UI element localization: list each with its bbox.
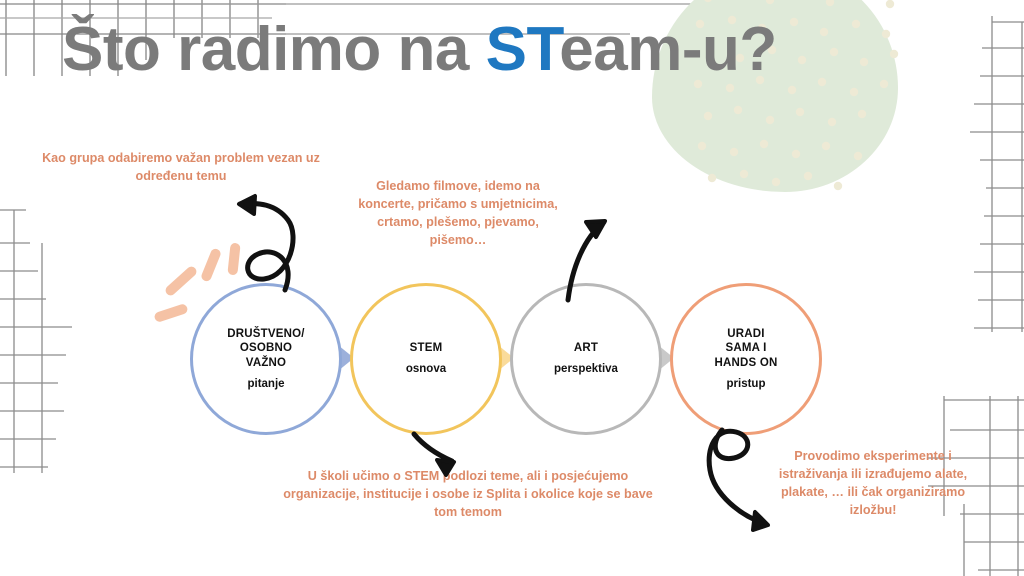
process-node-1-title: DRUŠTVENO/ OSOBNO VAŽNO	[227, 327, 304, 371]
process-node-3[interactable]: ART perspektiva	[510, 283, 662, 435]
sparkle-ray	[164, 265, 199, 298]
note-bottom-right: Provodimo eksperimente i istraživanja il…	[766, 448, 980, 520]
process-node-4-subtitle: pristup	[727, 378, 766, 392]
process-node-4-title: URADI SAMA I HANDS ON	[715, 327, 778, 371]
note-top-left: Kao grupa odabiremo važan problem vezan …	[16, 150, 346, 186]
sparkle-ray	[200, 247, 222, 282]
note-bottom-center: U školi učimo o STEM podlozi teme, ali i…	[278, 468, 658, 522]
process-node-4[interactable]: URADI SAMA I HANDS ON pristup	[670, 283, 822, 435]
sparkle-ray	[153, 303, 188, 323]
process-node-2-title: STEM	[410, 341, 443, 356]
process-node-3-title: ART	[574, 341, 598, 356]
note-top-center: Gledamo filmove, idemo na koncerte, prič…	[348, 178, 568, 250]
sparkle-ray	[227, 243, 240, 276]
slide-canvas: Što radimo na STeam-u? DRUŠTVENO/ OSOBNO…	[0, 0, 1024, 576]
process-node-1-subtitle: pitanje	[247, 378, 284, 392]
process-node-3-subtitle: perspektiva	[554, 363, 618, 377]
process-node-2[interactable]: STEM osnova	[350, 283, 502, 435]
process-node-1[interactable]: DRUŠTVENO/ OSOBNO VAŽNO pitanje	[190, 283, 342, 435]
process-node-2-subtitle: osnova	[406, 363, 446, 377]
